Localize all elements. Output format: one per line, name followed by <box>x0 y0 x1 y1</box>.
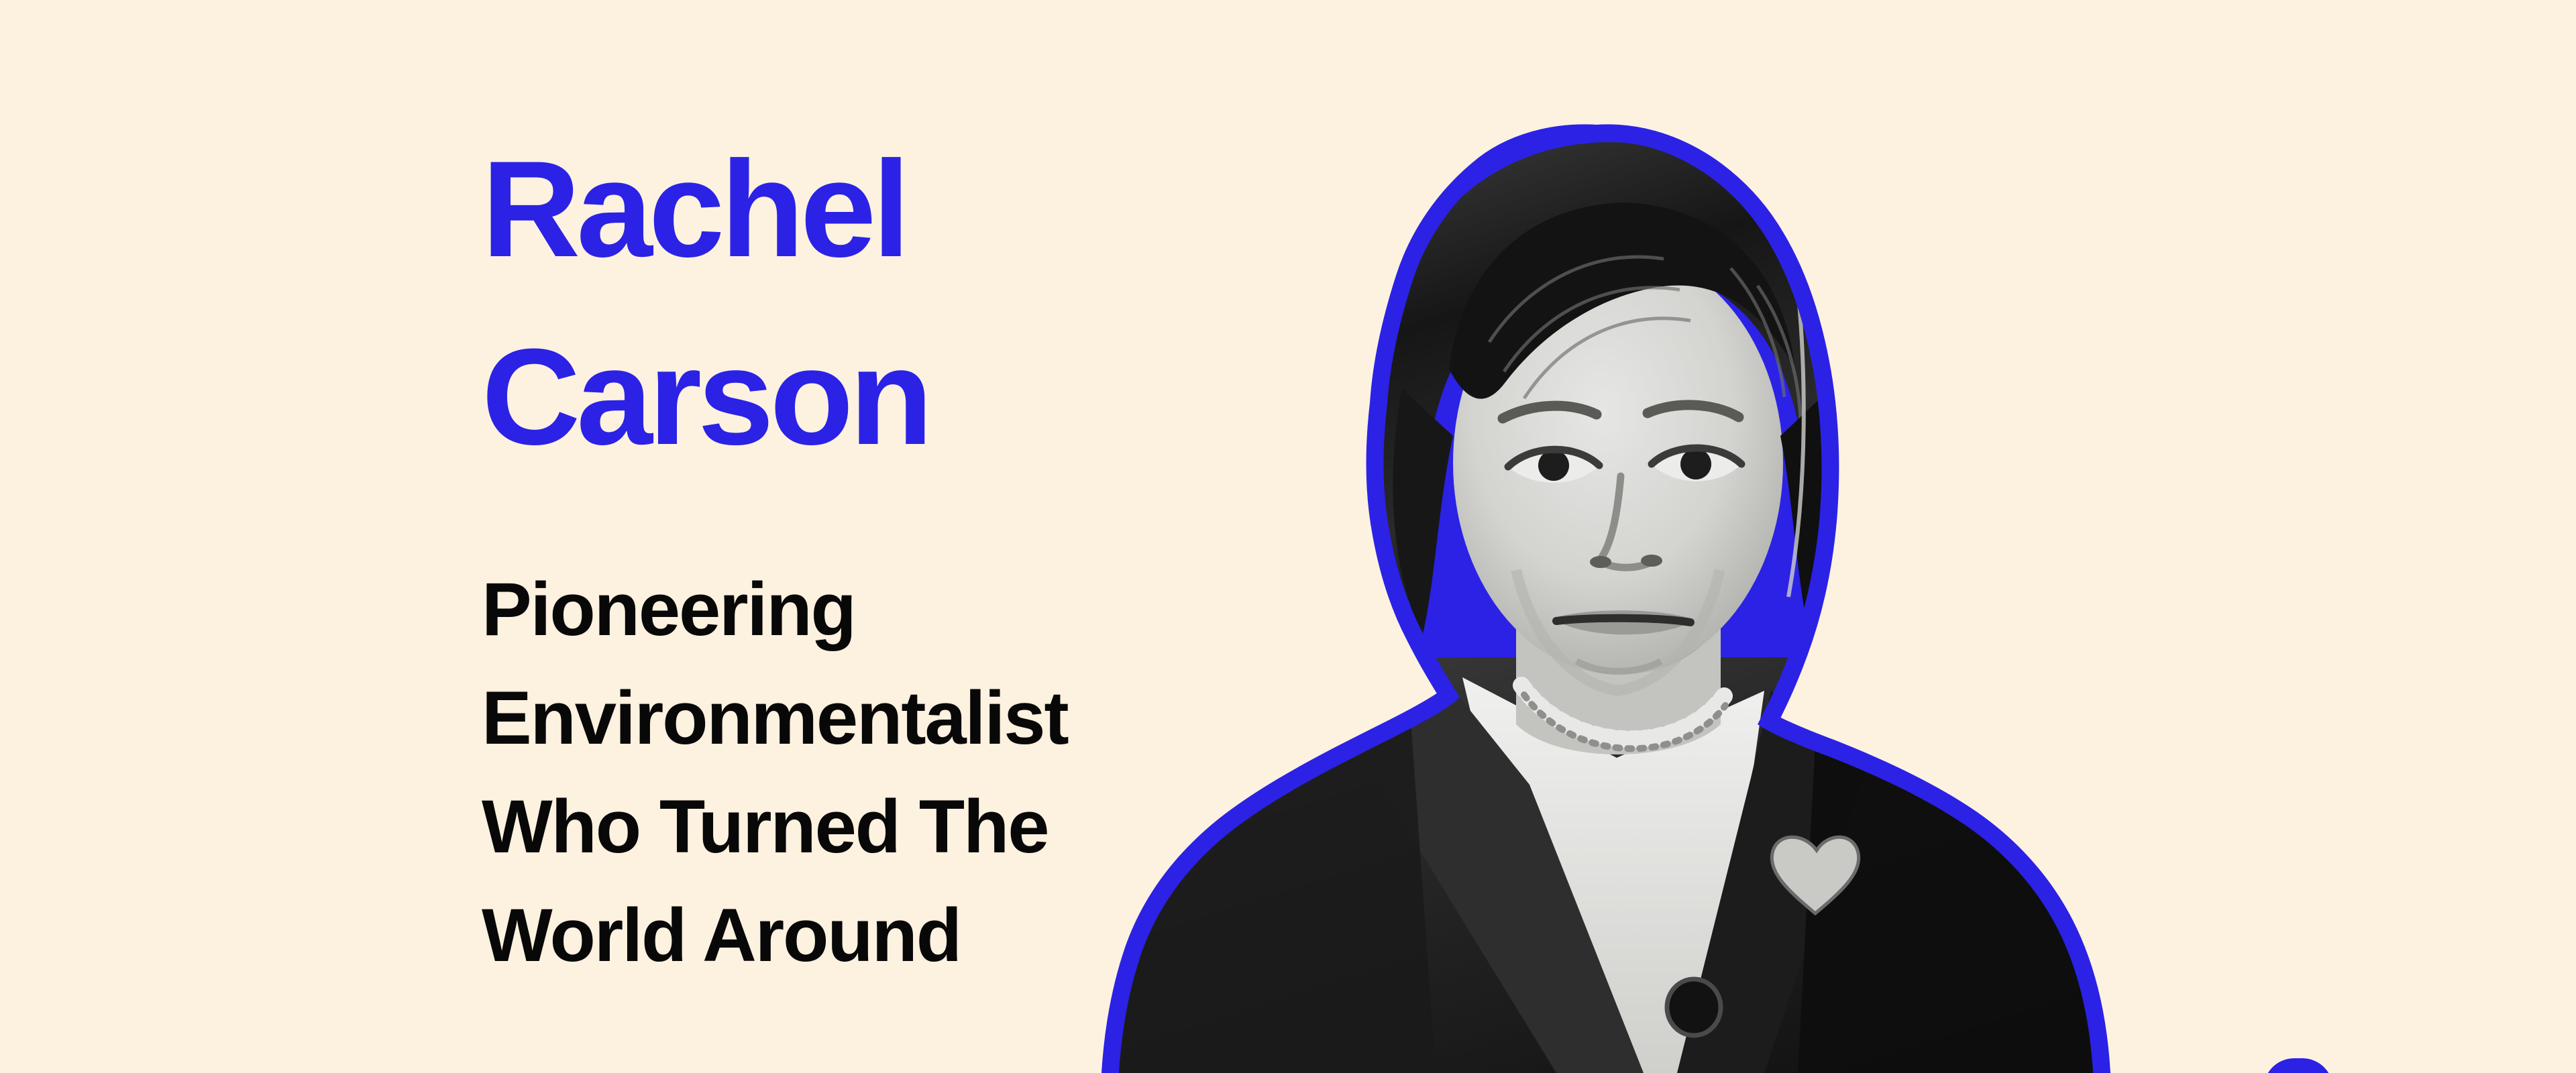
portrait-image <box>1087 101 2133 1073</box>
portrait-figure <box>1087 101 2133 1073</box>
corner-accent-shape <box>2263 1058 2333 1073</box>
portrait-photo <box>1087 142 2133 1073</box>
poster-canvas: Rachel Carson Pioneering Environmentalis… <box>0 0 2576 1073</box>
